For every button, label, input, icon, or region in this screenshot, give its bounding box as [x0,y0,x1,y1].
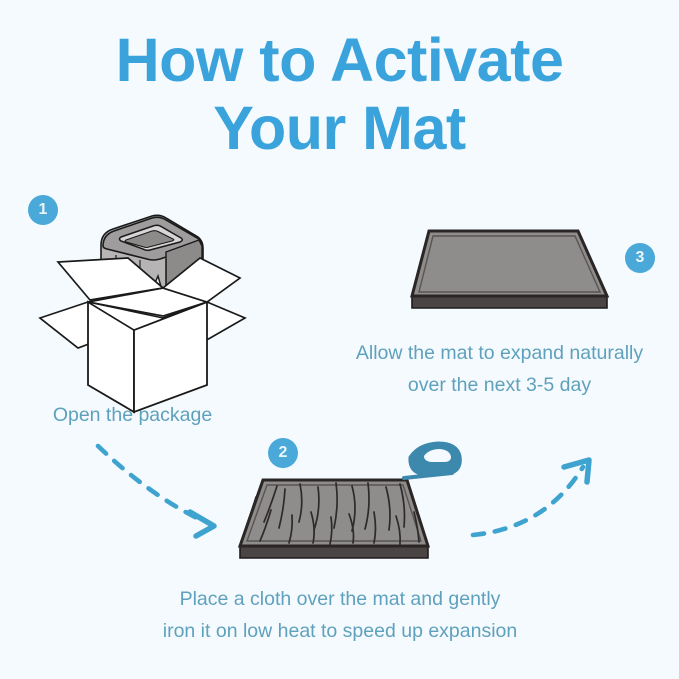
arrow-step1-to-step2 [98,446,214,536]
page-title: How to Activate Your Mat [0,26,679,163]
arrow-step2-to-step3 [473,460,589,535]
iron-icon [404,442,461,478]
step-caption-3: Allow the mat to expand naturally over t… [320,338,679,401]
step-badge-1: 1 [28,195,58,225]
infographic-canvas: How to Activate Your Mat [0,0,679,679]
step-badge-3: 3 [625,243,655,273]
title-line-1: How to Activate [0,26,679,94]
step-caption-1: Open the package [0,400,265,432]
title-line-2: Your Mat [0,94,679,162]
step-caption-2: Place a cloth over the mat and gently ir… [110,584,570,647]
rolled-mat-in-box [101,215,203,297]
flat-mat-illustration [412,231,607,308]
open-box-illustration [40,215,245,412]
wrinkled-mat-illustration [240,480,428,558]
mat-wrinkle-lines [246,483,419,544]
step-badge-2: 2 [268,438,298,468]
